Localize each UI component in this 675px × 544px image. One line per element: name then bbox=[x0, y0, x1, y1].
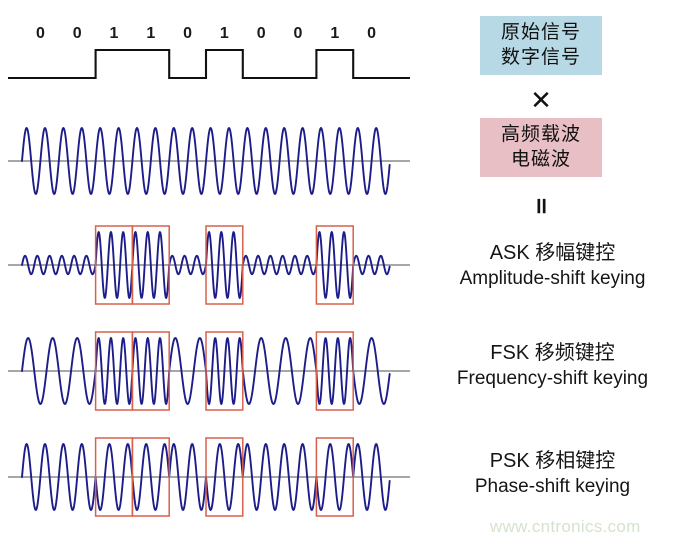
psk-label-cn: PSK 移相键控 bbox=[430, 448, 675, 474]
psk-label: PSK 移相键控 Phase-shift keying bbox=[430, 448, 675, 499]
fsk-label-en: Frequency-shift keying bbox=[430, 366, 675, 391]
fsk-label-cn: FSK 移频键控 bbox=[430, 340, 675, 366]
psk-waveform bbox=[0, 434, 420, 522]
source-signal-line1: 原始信号 bbox=[501, 22, 581, 43]
carrier-svg bbox=[0, 118, 420, 206]
ask-label: ASK 移幅键控 Amplitude-shift keying bbox=[430, 240, 675, 291]
psk-svg bbox=[0, 434, 420, 522]
ask-label-cn: ASK 移幅键控 bbox=[430, 240, 675, 266]
source-signal-box: 原始信号 数字信号 bbox=[480, 16, 602, 75]
ask-waveform bbox=[0, 222, 420, 310]
digital-signal-svg bbox=[0, 40, 420, 90]
ask-svg bbox=[0, 222, 420, 310]
modulation-diagram: 0011010010 原始信号 数字信号 ✕ 高频载波 电磁波 = ASK 移幅… bbox=[0, 0, 675, 544]
site-watermark: www.cntronics.com bbox=[490, 516, 670, 538]
fsk-label: FSK 移频键控 Frequency-shift keying bbox=[430, 340, 675, 391]
psk-label-en: Phase-shift keying bbox=[430, 474, 675, 499]
multiply-icon: ✕ bbox=[480, 88, 602, 114]
fsk-waveform bbox=[0, 328, 420, 416]
carrier-signal-line1: 高频载波 bbox=[501, 124, 581, 145]
carrier-waveform bbox=[0, 118, 420, 206]
source-signal-line2: 数字信号 bbox=[480, 45, 602, 70]
right-legend-column: 原始信号 数字信号 ✕ 高频载波 电磁波 = ASK 移幅键控 Amplitud… bbox=[430, 0, 675, 544]
fsk-svg bbox=[0, 328, 420, 416]
digital-signal-waveform bbox=[0, 40, 420, 90]
ask-label-en: Amplitude-shift keying bbox=[430, 266, 675, 291]
